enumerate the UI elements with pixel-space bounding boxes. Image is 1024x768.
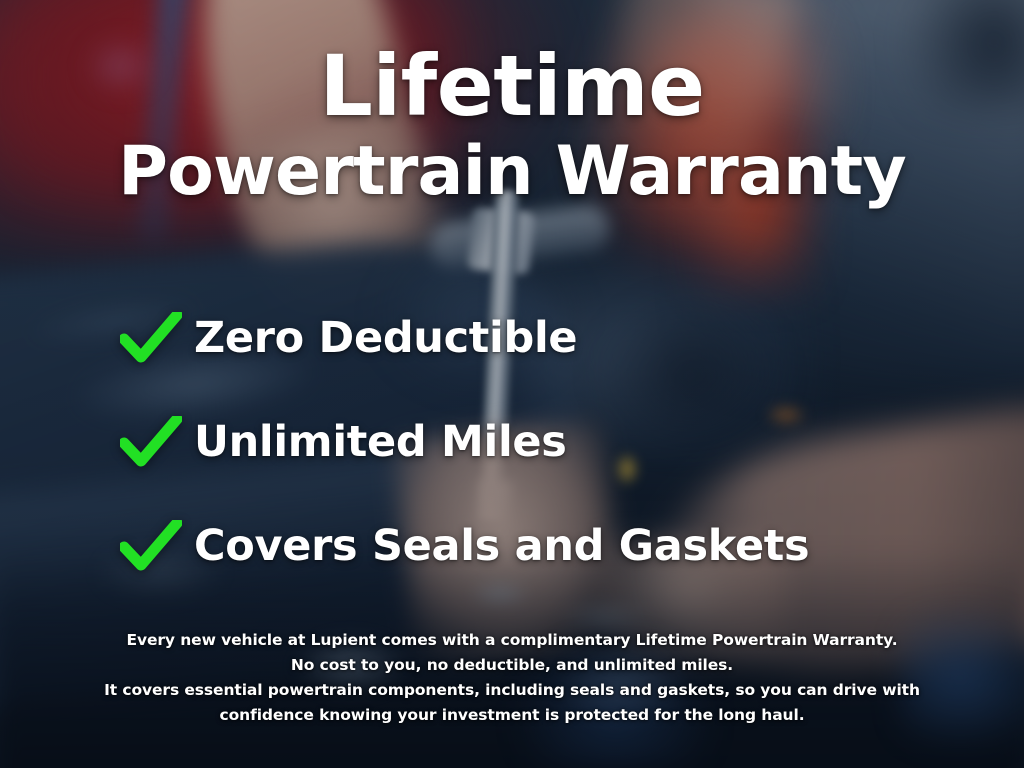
benefit-label: Covers Seals and Gaskets: [194, 521, 809, 571]
headline: Lifetime Powertrain Warranty: [0, 44, 1024, 206]
benefit-label: Unlimited Miles: [194, 417, 567, 467]
promo-banner: Lifetime Powertrain Warranty Zero Deduct…: [0, 0, 1024, 768]
headline-line-2: Powertrain Warranty: [0, 138, 1024, 206]
footnote-line-2: No cost to you, no deductible, and unlim…: [0, 653, 1024, 678]
benefits-list: Zero Deductible Unlimited Miles Covers S…: [120, 286, 940, 598]
benefit-item-zero-deductible: Zero Deductible: [120, 286, 940, 390]
check-icon: [120, 416, 194, 468]
check-icon: [120, 520, 194, 572]
check-icon: [120, 312, 194, 364]
footnote-paragraph: Every new vehicle at Lupient comes with …: [0, 628, 1024, 728]
benefit-label: Zero Deductible: [194, 313, 577, 363]
footnote-line-1: Every new vehicle at Lupient comes with …: [0, 628, 1024, 653]
benefit-item-covers-seals-and-gaskets: Covers Seals and Gaskets: [120, 494, 940, 598]
banner-content: Lifetime Powertrain Warranty Zero Deduct…: [0, 0, 1024, 768]
footnote-line-4: confidence knowing your investment is pr…: [0, 703, 1024, 728]
benefit-item-unlimited-miles: Unlimited Miles: [120, 390, 940, 494]
footnote-line-3: It covers essential powertrain component…: [0, 678, 1024, 703]
headline-line-1: Lifetime: [0, 44, 1024, 128]
